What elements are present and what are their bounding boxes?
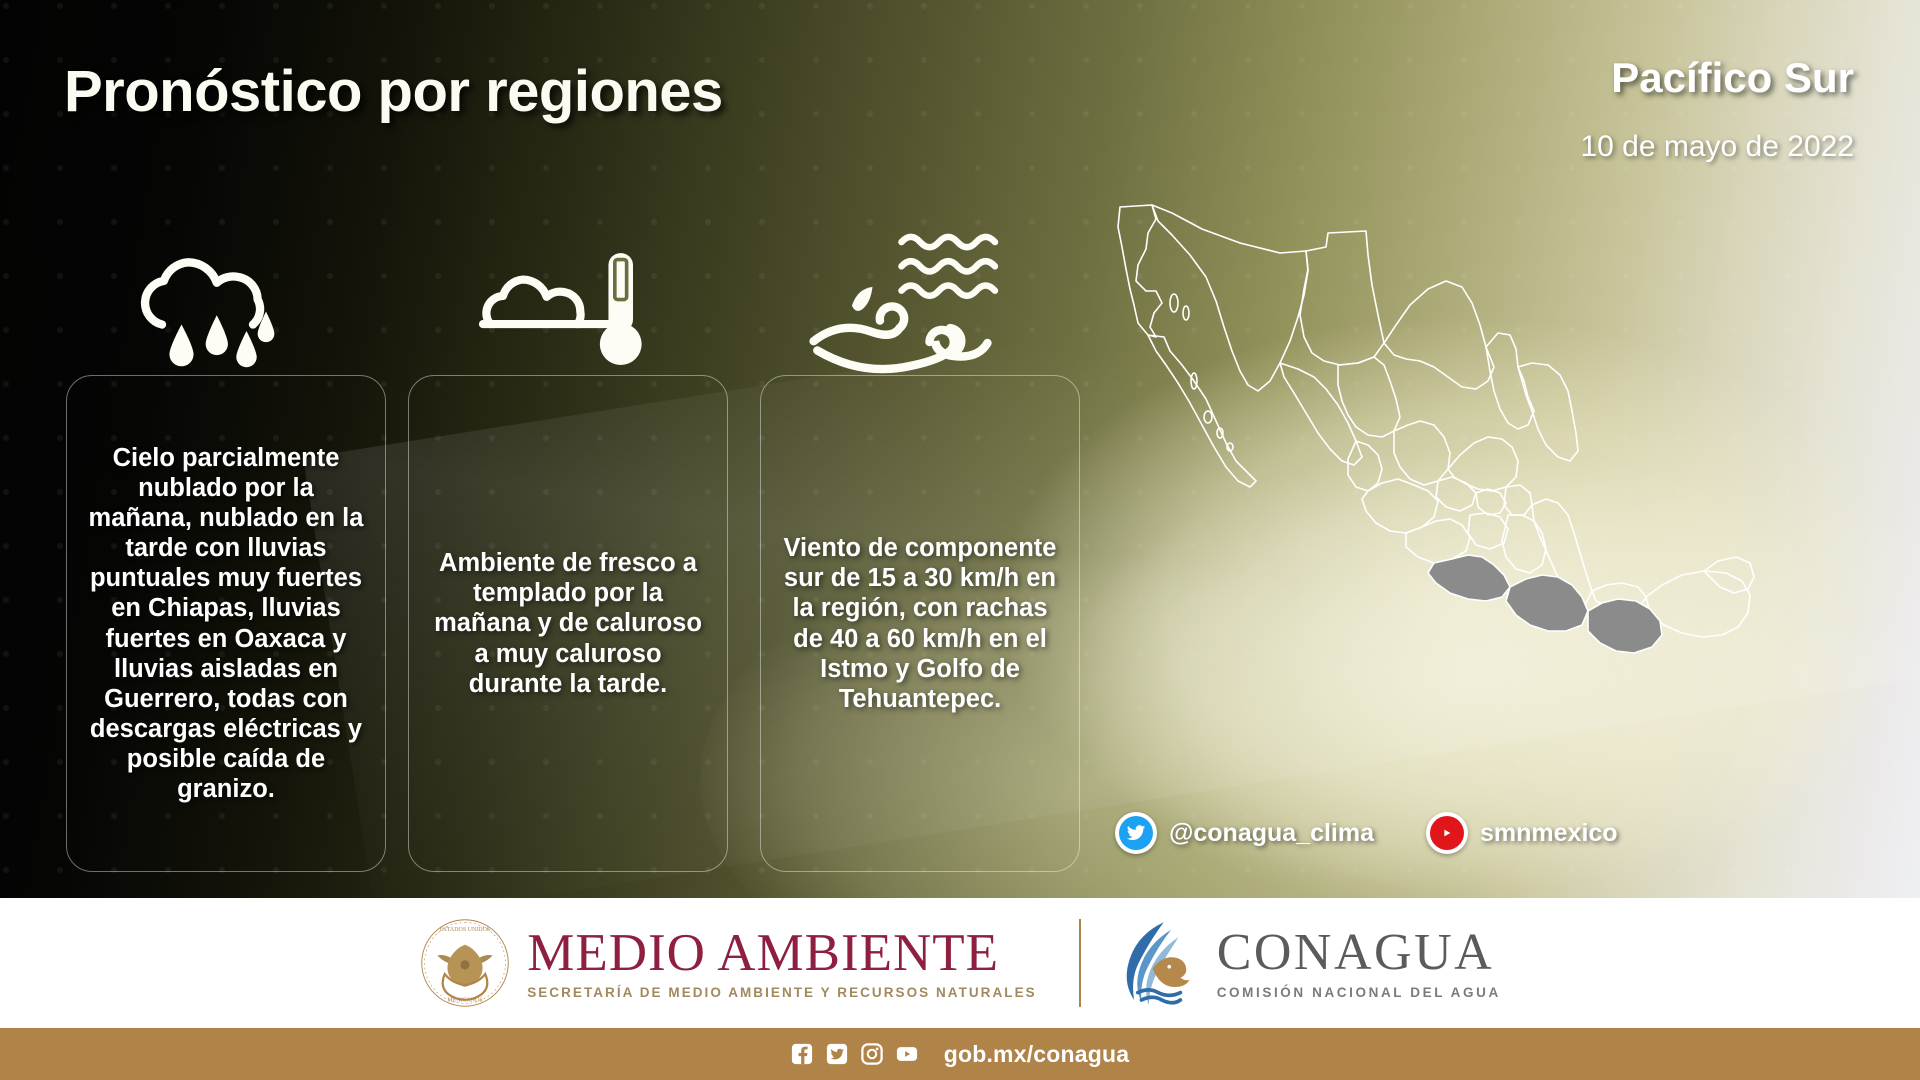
youtube-handle: smnmexico xyxy=(1480,819,1618,848)
twitter-icon[interactable] xyxy=(1115,812,1157,854)
facebook-icon[interactable] xyxy=(791,1043,813,1065)
forecast-card-wind: Viento de componente sur de 15 a 30 km/h… xyxy=(760,375,1080,872)
youtube-icon[interactable] xyxy=(896,1043,918,1065)
forecast-card-temperature-text: Ambiente de fresco a templado por la mañ… xyxy=(425,548,711,698)
cloud-thermometer-icon xyxy=(408,185,718,375)
wind-icon xyxy=(760,160,1070,375)
medio-ambiente-subtitle: SECRETARÍA DE MEDIO AMBIENTE Y RECURSOS … xyxy=(527,985,1036,1000)
medio-ambiente-title: MEDIO AMBIENTE xyxy=(527,926,1036,980)
conagua-subtitle: COMISIÓN NACIONAL DEL AGUA xyxy=(1217,985,1501,1000)
instagram-icon[interactable] xyxy=(861,1043,883,1065)
page-title: Pronóstico por regiones xyxy=(64,58,723,125)
social-links: @conagua_clima smnmexico xyxy=(1115,812,1618,854)
conagua-logo: CONAGUA COMISIÓN NACIONAL DEL AGUA xyxy=(1123,920,1501,1006)
youtube-link[interactable]: smnmexico xyxy=(1426,812,1618,854)
youtube-icon[interactable] xyxy=(1426,812,1468,854)
gob-url[interactable]: gob.mx/conagua xyxy=(944,1041,1130,1068)
rain-cloud-icon xyxy=(70,185,370,375)
twitter-link[interactable]: @conagua_clima xyxy=(1115,812,1374,854)
mexico-map xyxy=(1090,185,1790,685)
conagua-eagle-wave-logo xyxy=(1123,920,1197,1006)
conagua-title: CONAGUA xyxy=(1217,926,1501,979)
twitter-icon[interactable] xyxy=(826,1043,848,1065)
region-title: Pacífico Sur xyxy=(1611,54,1854,102)
footer-divider xyxy=(1079,919,1081,1007)
forecast-card-sky-text: Cielo parcialmente nublado por la mañana… xyxy=(83,443,369,804)
twitter-handle: @conagua_clima xyxy=(1169,819,1374,848)
svg-text:ESTADOS UNIDOS: ESTADOS UNIDOS xyxy=(440,927,490,933)
mexican-eagle-emblem: ESTADOS UNIDOS MEXICANOS xyxy=(419,917,511,1009)
medio-ambiente-logo: ESTADOS UNIDOS MEXICANOS MEDIO AMBIENTE … xyxy=(419,917,1036,1009)
forecast-card-sky: Cielo parcialmente nublado por la mañana… xyxy=(66,375,386,872)
infographic-root: Pronóstico por regiones Pacífico Sur 10 … xyxy=(0,0,1920,1080)
forecast-card-wind-text: Viento de componente sur de 15 a 30 km/h… xyxy=(777,533,1063,713)
forecast-date: 10 de mayo de 2022 xyxy=(1580,130,1854,164)
bottom-bar: gob.mx/conagua xyxy=(0,1028,1920,1080)
footer-logos: ESTADOS UNIDOS MEXICANOS MEDIO AMBIENTE … xyxy=(0,898,1920,1028)
forecast-card-temperature: Ambiente de fresco a templado por la mañ… xyxy=(408,375,728,872)
